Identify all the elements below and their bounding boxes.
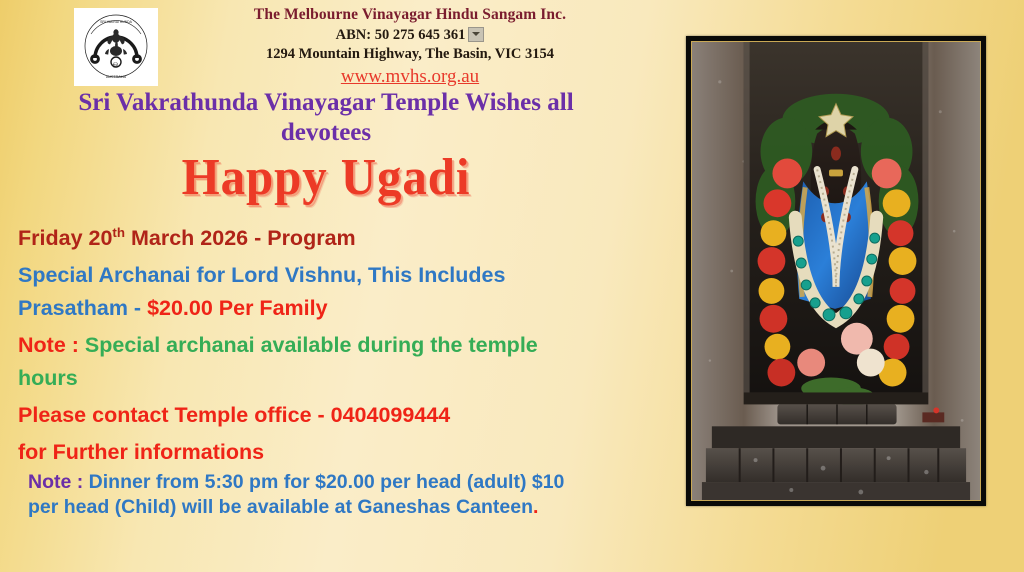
temple-ganesha-emblem-icon: SRI VAKRATHUNDA AUSTRALIA: [79, 12, 153, 82]
festival-title: Happy Ugadi: [35, 152, 618, 204]
note-archanai-line-2: hours: [18, 364, 658, 392]
note-label: Note :: [18, 333, 85, 357]
note-archanai-line-1: Note : Special archanai available during…: [18, 331, 658, 359]
organisation-address: 1294 Mountain Highway, The Basin, VIC 31…: [170, 45, 650, 64]
archanai-line-2: Prasatham - $20.00 Per Family: [18, 294, 658, 322]
dinner-note-label: Note :: [28, 471, 89, 493]
dinner-note-line-2: per head (Child) will be available at Ga…: [28, 496, 533, 518]
program-date-suffix: March 2026 - Program: [125, 226, 356, 250]
prasatham-label: Prasatham -: [18, 296, 147, 320]
contact-line: Please contact Temple office - 040409944…: [18, 401, 658, 429]
contact-line-secondary: for Further informations: [18, 438, 658, 466]
abn-row: ABN: 50 275 645 361: [170, 26, 650, 45]
program-date-ordinal: th: [112, 225, 125, 240]
program-details: Friday 20th March 2026 - Program Special…: [18, 224, 658, 476]
abn-number: 50 275 645 361: [375, 27, 466, 43]
website-link[interactable]: www.mvhs.org.au: [341, 65, 479, 89]
dinner-note-line-1: Dinner from 5:30 pm for $20.00 per head …: [89, 471, 565, 493]
program-date-line: Friday 20th March 2026 - Program: [18, 224, 658, 252]
organisation-details: The Melbourne Vinayagar Hindu Sangam Inc…: [170, 6, 650, 88]
deity-photo-frame: [686, 36, 986, 506]
temple-logo: SRI VAKRATHUNDA AUSTRALIA: [74, 8, 158, 86]
organisation-name: The Melbourne Vinayagar Hindu Sangam Inc…: [170, 6, 650, 25]
deity-photo: [691, 41, 981, 501]
archanai-line-1: Special Archanai for Lord Vishnu, This I…: [18, 261, 658, 289]
dinner-note-period: .: [533, 496, 538, 518]
flyer-header: SRI VAKRATHUNDA AUSTRALIA: [0, 4, 660, 88]
wish-line-2: devotees: [16, 118, 636, 148]
note-text: Special archanai available during the te…: [85, 333, 538, 357]
program-date-prefix: Friday 20: [18, 226, 112, 250]
deity-vishnu-shrine-illustration: [692, 42, 980, 500]
dinner-note: Note : Dinner from 5:30 pm for $20.00 pe…: [28, 470, 643, 520]
svg-text:SRI VAKRATHUNDA: SRI VAKRATHUNDA: [100, 20, 132, 24]
abn-label: ABN:: [336, 27, 371, 43]
archanai-price: $20.00 Per Family: [147, 296, 327, 320]
svg-text:ௐ: ௐ: [113, 60, 119, 67]
svg-text:AUSTRALIA: AUSTRALIA: [106, 75, 127, 79]
smart-tag-dropdown-icon[interactable]: [468, 27, 484, 42]
ugadi-flyer: SRI VAKRATHUNDA AUSTRALIA: [0, 0, 1024, 572]
wish-line-1: Sri Vakrathunda Vinayagar Temple Wishes …: [16, 88, 636, 118]
wish-heading: Sri Vakrathunda Vinayagar Temple Wishes …: [16, 88, 636, 148]
